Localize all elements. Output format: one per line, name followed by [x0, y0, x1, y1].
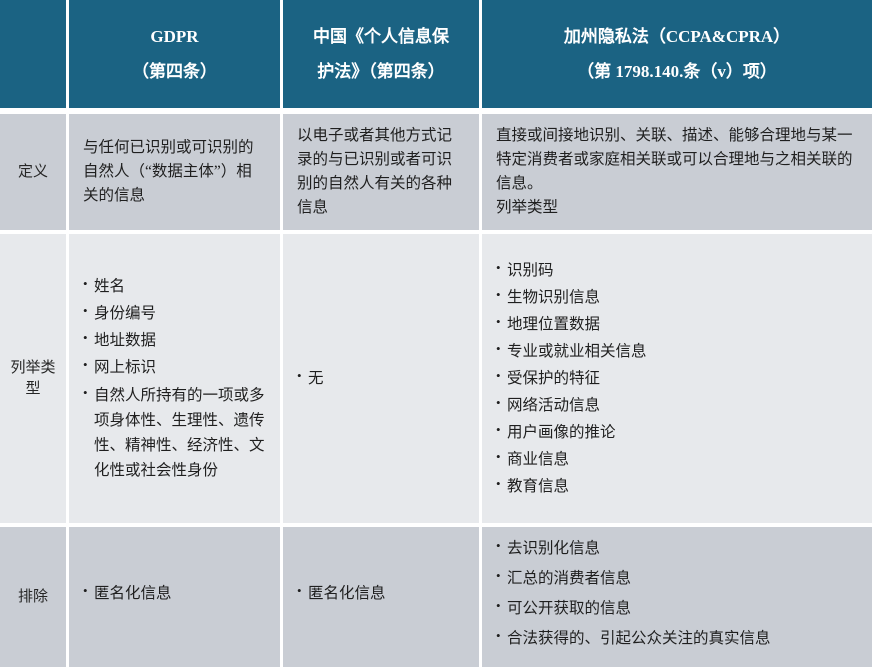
list-item: 去识别化信息: [496, 537, 858, 561]
list-item: 匿名化信息: [297, 582, 465, 606]
list-item: 汇总的消费者信息: [496, 567, 858, 591]
cell-definition-gdpr: 与任何已识别或可识别的自然人（“数据主体”）相关的信息: [69, 114, 283, 234]
list-item: 自然人所持有的一项或多项身体性、生理性、遗传性、精神性、经济性、文化性或社会性身…: [83, 383, 266, 483]
list-item: 匿名化信息: [83, 582, 266, 606]
bullet-list-exclusion-ccpa: 去识别化信息汇总的消费者信息可公开获取的信息合法获得的、引起公众关注的真实信息: [496, 537, 858, 651]
header-cell-china-pipl: 中国《个人信息保 护法》（第四条）: [283, 0, 482, 114]
cell-exclusion-china: 匿名化信息: [283, 527, 482, 667]
list-item: 商业信息: [496, 447, 858, 472]
cell-enumerated-gdpr: 姓名身份编号地址数据网上标识自然人所持有的一项或多项身体性、生理性、遗传性、精神…: [69, 234, 283, 527]
list-item: 教育信息: [496, 474, 858, 499]
header-china-line1: 中国《个人信息保: [293, 28, 469, 46]
definition-china-text: 以电子或者其他方式记录的与已识别或者可识别的自然人有关的各种信息: [297, 124, 465, 220]
table-row-definition: 定义 与任何已识别或可识别的自然人（“数据主体”）相关的信息 以电子或者其他方式…: [0, 114, 872, 234]
list-item: 生物识别信息: [496, 285, 858, 310]
header-ccpa-line1: 加州隐私法（CCPA&CPRA）: [492, 28, 862, 46]
header-ccpa-line2: （第 1798.140.条（v）项）: [492, 63, 862, 81]
list-item: 无: [297, 366, 465, 391]
comparison-table: GDPR （第四条） 中国《个人信息保 护法》（第四条） 加州隐私法（CCPA&…: [0, 0, 872, 667]
bullet-list-enumerated-ccpa: 识别码生物识别信息地理位置数据专业或就业相关信息受保护的特征网络活动信息用户画像…: [496, 258, 858, 500]
list-item: 身份编号: [83, 301, 266, 326]
header-gdpr-line2: （第四条）: [79, 63, 270, 81]
cell-exclusion-gdpr: 匿名化信息: [69, 527, 283, 667]
list-item: 网上标识: [83, 355, 266, 380]
cell-definition-china: 以电子或者其他方式记录的与已识别或者可识别的自然人有关的各种信息: [283, 114, 482, 234]
list-item: 姓名: [83, 274, 266, 299]
bullet-list-exclusion-china: 匿名化信息: [297, 582, 465, 606]
list-item: 识别码: [496, 258, 858, 283]
table-body: 定义 与任何已识别或可识别的自然人（“数据主体”）相关的信息 以电子或者其他方式…: [0, 114, 872, 667]
list-item: 可公开获取的信息: [496, 597, 858, 621]
cell-enumerated-china: 无: [283, 234, 482, 527]
list-item: 地理位置数据: [496, 312, 858, 337]
row-label-definition: 定义: [0, 114, 69, 234]
list-item: 网络活动信息: [496, 393, 858, 418]
header-cell-label-column: [0, 0, 69, 114]
header-cell-ccpa-cpra: 加州隐私法（CCPA&CPRA） （第 1798.140.条（v）项）: [482, 0, 872, 114]
definition-ccpa-text: 直接或间接地识别、关联、描述、能够合理地与某一特定消费者或家庭相关联或可以合理地…: [496, 124, 858, 220]
cell-exclusion-ccpa: 去识别化信息汇总的消费者信息可公开获取的信息合法获得的、引起公众关注的真实信息: [482, 527, 872, 667]
header-gdpr-line1: GDPR: [79, 28, 270, 46]
bullet-list-exclusion-gdpr: 匿名化信息: [83, 582, 266, 606]
list-item: 用户画像的推论: [496, 420, 858, 445]
table-header: GDPR （第四条） 中国《个人信息保 护法》（第四条） 加州隐私法（CCPA&…: [0, 0, 872, 114]
row-label-enumerated-types: 列举类型: [0, 234, 69, 527]
table-row-enumerated-types: 列举类型 姓名身份编号地址数据网上标识自然人所持有的一项或多项身体性、生理性、遗…: [0, 234, 872, 527]
list-item: 专业或就业相关信息: [496, 339, 858, 364]
cell-enumerated-ccpa: 识别码生物识别信息地理位置数据专业或就业相关信息受保护的特征网络活动信息用户画像…: [482, 234, 872, 527]
header-china-line2: 护法》（第四条）: [293, 63, 469, 81]
row-label-exclusion: 排除: [0, 527, 69, 667]
list-item: 地址数据: [83, 328, 266, 353]
list-item: 合法获得的、引起公众关注的真实信息: [496, 627, 858, 651]
bullet-list-enumerated-china: 无: [297, 366, 465, 391]
table-row-exclusion: 排除 匿名化信息 匿名化信息 去识别化信息汇总的消费者信息可公开获取的信息合法获…: [0, 527, 872, 667]
definition-gdpr-text: 与任何已识别或可识别的自然人（“数据主体”）相关的信息: [83, 136, 266, 208]
list-item: 受保护的特征: [496, 366, 858, 391]
header-cell-gdpr: GDPR （第四条）: [69, 0, 283, 114]
cell-definition-ccpa: 直接或间接地识别、关联、描述、能够合理地与某一特定消费者或家庭相关联或可以合理地…: [482, 114, 872, 234]
bullet-list-enumerated-gdpr: 姓名身份编号地址数据网上标识自然人所持有的一项或多项身体性、生理性、遗传性、精神…: [83, 274, 266, 483]
header-row: GDPR （第四条） 中国《个人信息保 护法》（第四条） 加州隐私法（CCPA&…: [0, 0, 872, 114]
